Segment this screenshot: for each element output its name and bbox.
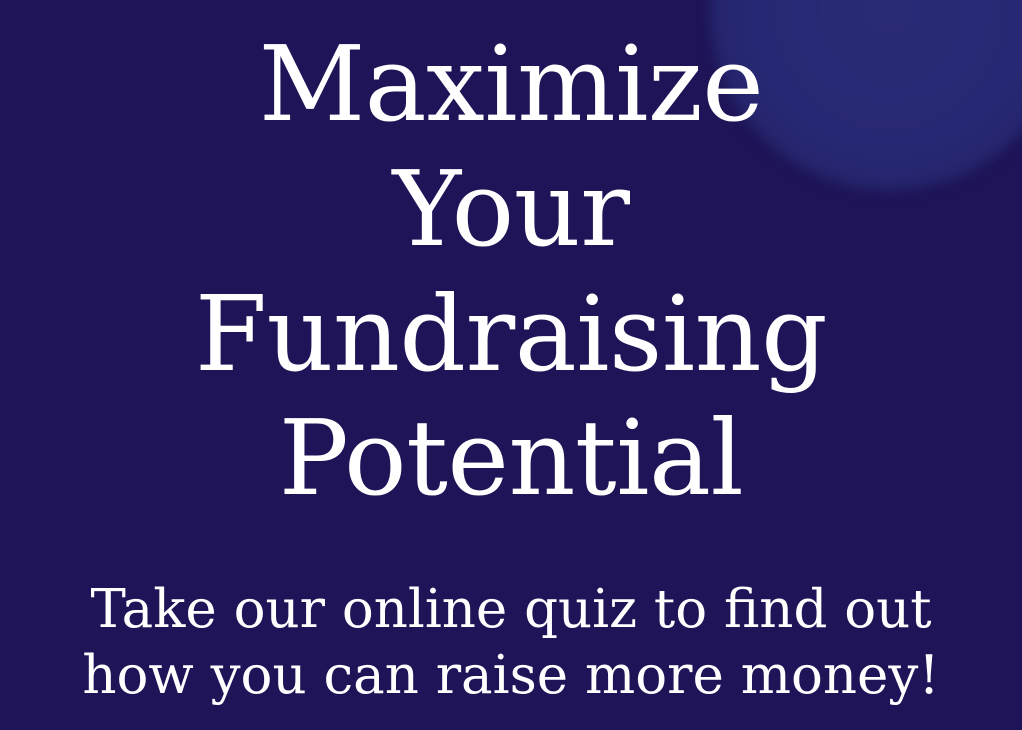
page-title: Maximize Your Fundraising Potential xyxy=(131,22,891,521)
hero-subheadline: Take our online quiz to find out how you… xyxy=(71,577,951,710)
hero-content: Maximize Your Fundraising Potential Take… xyxy=(0,0,1022,730)
hero-section: Maximize Your Fundraising Potential Take… xyxy=(0,0,1022,730)
